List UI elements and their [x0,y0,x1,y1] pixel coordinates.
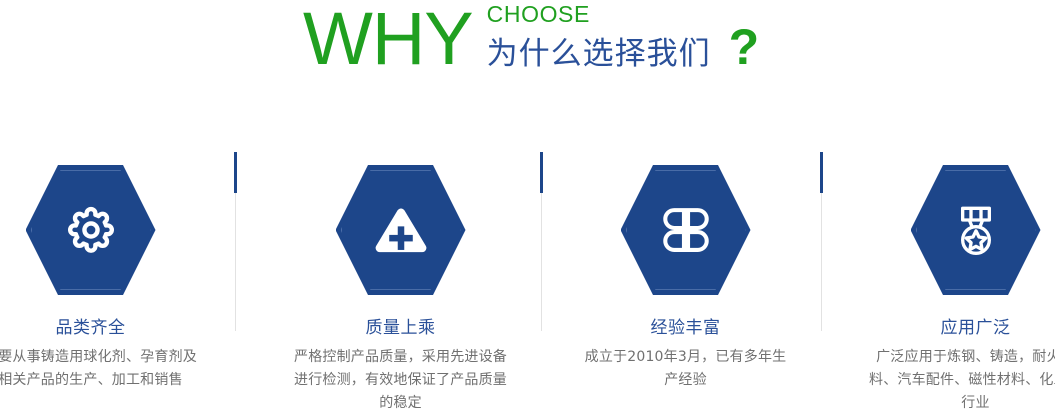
medal-icon [911,165,1041,295]
feature-title: 质量上乘 [268,317,533,339]
question-mark-icon: ? [729,29,760,65]
feature-column-4: 应用广泛 广泛应用于炼钢、铸造，耐火材料、汽车配件、磁性材料、化工等行业 [843,140,1055,415]
feature-title: 应用广泛 [843,317,1055,339]
heading-subtitle-cn: 为什么选择我们 [487,36,711,72]
divider-2 [540,152,543,331]
heading-choose: CHOOSE [487,2,760,27]
heading-why: WHY [303,2,473,76]
divider-accent [540,152,543,193]
divider-3 [820,152,823,331]
divider-line [821,193,822,331]
feature-column-2: 质量上乘 严格控制产品质量，采用先进设备进行检测，有效地保证了产品质量的稳定 [268,140,533,415]
hexagon-badge-4 [911,165,1041,295]
hexagon-badge-2 [336,165,466,295]
feature-title: 品类齐全 [0,317,223,339]
feature-description: 主要从事铸造用球化剂、孕育剂及相关产品的生产、加工和销售 [0,346,223,392]
feature-description: 成立于2010年3月，已有多年生产经验 [553,346,818,392]
triangle-plus-icon [336,165,466,295]
divider-1 [234,152,237,331]
hexagon-badge-1 [26,165,156,295]
feature-columns: 品类齐全 主要从事铸造用球化剂、孕育剂及相关产品的生产、加工和销售 [0,140,1055,416]
feature-description: 严格控制产品质量，采用先进设备进行检测，有效地保证了产品质量的稳定 [268,346,533,415]
feature-column-1: 品类齐全 主要从事铸造用球化剂、孕育剂及相关产品的生产、加工和销售 [0,140,223,392]
hexagon-badge-3 [621,165,751,295]
feature-title: 经验丰富 [553,317,818,339]
divider-accent [820,152,823,193]
section-heading: WHY CHOOSE 为什么选择我们 ? [0,0,1055,92]
divider-line [541,193,542,331]
feature-column-3: 经验丰富 成立于2010年3月，已有多年生产经验 [553,140,818,392]
gear-icon [26,165,156,295]
divider-accent [234,152,237,193]
clover-icon [621,165,751,295]
divider-line [235,193,236,331]
feature-description: 广泛应用于炼钢、铸造，耐火材料、汽车配件、磁性材料、化工等行业 [843,346,1055,415]
